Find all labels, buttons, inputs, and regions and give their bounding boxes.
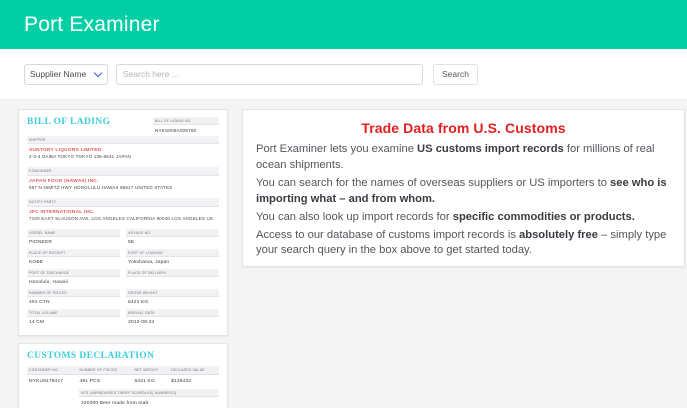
bill-of-lading-card: BILL OF LADING BILL OF LADING NO. NYKS00… <box>18 109 228 336</box>
bill-of-lading-number-block: BILL OF LADING NO. NYKS006A005760 <box>153 117 219 133</box>
field-cell: ARRIVAL DATE2012-09-24 <box>126 309 219 329</box>
customs-declaration-title: CUSTOMS DECLARATION <box>27 351 219 361</box>
field-cell: PORT OF DISCHARGEHonolulu, Hawaii <box>27 269 120 289</box>
bill-of-lading-header: BILL OF LADING BILL OF LADING NO. NYKS00… <box>27 117 219 133</box>
field-label: GROSS WEIGHT <box>126 289 219 297</box>
column-header: NET WEIGHT <box>133 366 170 374</box>
column-header: DECLARED VALUE <box>169 366 219 374</box>
party-address: 2-3-3 DAIBA TOKYO TOKYO 135-8631 JAPAN <box>27 154 219 164</box>
info-panel-title: Trade Data from U.S. Customs <box>256 120 671 136</box>
parties-container: SHIPPERSUNTORY LIQUORS LIMITED2-3-3 DAIB… <box>27 136 219 226</box>
party-name: SUNTORY LIQUORS LIMITED <box>27 144 219 154</box>
bill-of-lading-fields: VESSEL NAMEPIONEERVOYAGE NO5EPLACE OF RE… <box>27 229 219 329</box>
field-value: PIONEER <box>27 237 120 249</box>
field-label: PLACE OF DELIVERY <box>126 269 219 277</box>
bill-of-lading-number-value: NYKS006A005760 <box>153 125 219 133</box>
table-cell: $128432 <box>169 374 219 389</box>
bill-of-lading-title: BILL OF LADING <box>27 117 110 127</box>
emphasis-text: specific commodities or products. <box>453 211 635 223</box>
field-label: VOYAGE NO <box>126 229 219 237</box>
sample-documents-column: BILL OF LADING BILL OF LADING NO. NYKS00… <box>18 109 228 408</box>
field-label: TOTAL VOLUME <box>27 309 120 317</box>
party-address: 7100 EAST SLAUSON AVE, LOS ANGELES CALIF… <box>27 216 219 226</box>
info-panel-body: Port Examiner lets you examine US custom… <box>256 142 671 259</box>
search-button[interactable]: Search <box>433 64 478 85</box>
search-bar: Supplier Name Search <box>0 49 687 100</box>
search-input[interactable] <box>116 64 423 85</box>
table-cell: 491 PCS <box>78 374 133 389</box>
bill-of-lading-number-label: BILL OF LADING NO. <box>153 117 219 125</box>
field-label: PLACE OF RECEIPT <box>27 249 120 257</box>
info-paragraph: Port Examiner lets you examine US custom… <box>256 142 671 174</box>
page-body: BILL OF LADING BILL OF LADING NO. NYKS00… <box>0 100 687 408</box>
party-block: CONSIGNEEJAPAN FOOD (HAWAII) INC.987 N N… <box>27 167 219 195</box>
field-cell: VOYAGE NO5E <box>126 229 219 249</box>
field-label: PORT OF DISCHARGE <box>27 269 120 277</box>
table-cell: NYKU8178417 <box>27 374 78 389</box>
table-cell: 6421 KG <box>133 374 170 389</box>
customs-declaration-table: CONTAINER NO.NUMBER OF PIECESNET WEIGHTD… <box>27 366 219 389</box>
body-text: Port Examiner lets you examine <box>256 143 417 155</box>
field-cell: PORT OF LOADINGYokohama, Japan <box>126 249 219 269</box>
info-paragraph: Access to our database of customs import… <box>256 228 671 260</box>
field-value: 2012-09-24 <box>126 317 219 329</box>
party-label: NOTIFY PARTY <box>27 198 219 206</box>
field-value: 5E <box>126 237 219 249</box>
info-paragraph: You can also look up import records for … <box>256 210 671 226</box>
party-name: JAPAN FOOD (HAWAII) INC. <box>27 176 219 186</box>
field-cell: NUMBER OF PIECES491 CTN <box>27 289 120 309</box>
hts-label: HTS (HARMONIZED TARIFF SCHEDULE) NUMBER(… <box>79 389 219 398</box>
table-row: NYKU8178417491 PCS6421 KG$128432 <box>27 374 219 389</box>
info-panel: Trade Data from U.S. Customs Port Examin… <box>242 109 685 267</box>
field-value <box>126 277 219 287</box>
party-block: SHIPPERSUNTORY LIQUORS LIMITED2-3-3 DAIB… <box>27 136 219 164</box>
column-header: NUMBER OF PIECES <box>78 366 133 374</box>
party-block: NOTIFY PARTYJFC INTERNATIONAL INC.7100 E… <box>27 198 219 226</box>
chevron-down-icon <box>94 69 102 77</box>
field-value: 6421 KG <box>126 297 219 309</box>
party-label: CONSIGNEE <box>27 167 219 175</box>
field-value: Yokohama, Japan <box>126 257 219 269</box>
column-header: CONTAINER NO. <box>27 366 78 374</box>
info-paragraph: You can search for the names of overseas… <box>256 176 671 208</box>
field-label: VESSEL NAME <box>27 229 120 237</box>
table-header-row: CONTAINER NO.NUMBER OF PIECESNET WEIGHTD… <box>27 366 219 374</box>
party-address: 987 N NIMITZ HWY HONOLULU HAWAII 96817 U… <box>27 185 219 195</box>
search-filter-label: Supplier Name <box>30 69 86 79</box>
party-name: JFC INTERNATIONAL INC. <box>27 207 219 217</box>
search-filter-select[interactable]: Supplier Name <box>24 64 108 85</box>
page-title: Port Examiner <box>24 13 160 37</box>
field-value: Honolulu, Hawaii <box>27 277 120 289</box>
field-cell: VESSEL NAMEPIONEER <box>27 229 120 249</box>
field-label: PORT OF LOADING <box>126 249 219 257</box>
field-value: KOBE <box>27 257 120 269</box>
field-label: ARRIVAL DATE <box>126 309 219 317</box>
field-label: NUMBER OF PIECES <box>27 289 120 297</box>
body-text: Access to our database of customs import… <box>256 229 519 241</box>
field-cell: PLACE OF RECEIPTKOBE <box>27 249 120 269</box>
field-cell: TOTAL VOLUME14 CM <box>27 309 120 329</box>
body-text: You can also look up import records for <box>256 211 453 223</box>
field-cell: GROSS WEIGHT6421 KG <box>126 289 219 309</box>
customs-declaration-card: CUSTOMS DECLARATION CONTAINER NO.NUMBER … <box>18 343 228 408</box>
body-text: You can search for the names of overseas… <box>256 177 610 189</box>
emphasis-text: US customs import records <box>417 143 564 155</box>
table-body: NYKU8178417491 PCS6421 KG$128432 <box>27 374 219 389</box>
field-value: 14 CM <box>27 317 120 329</box>
field-cell: PLACE OF DELIVERY <box>126 269 219 289</box>
field-value: 491 CTN <box>27 297 120 309</box>
site-header: Port Examiner <box>0 0 687 49</box>
party-label: SHIPPER <box>27 136 219 144</box>
hts-section: HTS (HARMONIZED TARIFF SCHEDULE) NUMBER(… <box>79 389 219 408</box>
emphasis-text: absolutely free <box>519 229 598 241</box>
hts-value: 220300 Beer made from malt <box>79 397 219 408</box>
